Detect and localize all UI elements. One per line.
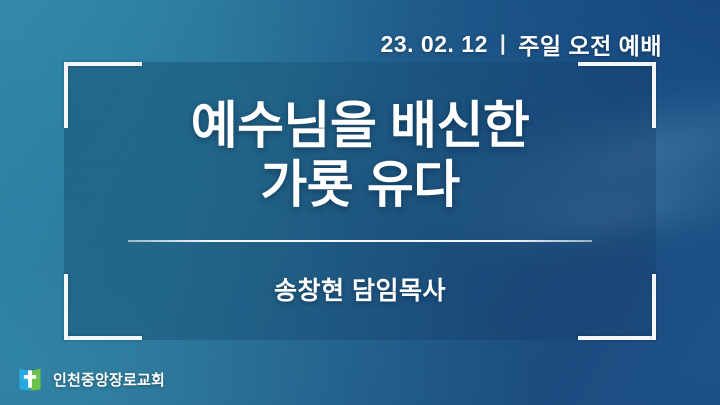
service-name: 주일 오전 예배 bbox=[518, 27, 662, 61]
church-logo: 인천중앙장로교회 bbox=[16, 365, 165, 393]
service-header-separator: | bbox=[500, 32, 506, 56]
sermon-title-line-1: 예수님을 배신한 bbox=[0, 96, 720, 155]
service-date: 23. 02. 12 bbox=[381, 31, 488, 58]
service-header: 23. 02. 12 | 주일 오전 예배 bbox=[381, 27, 662, 61]
church-name: 인천중앙장로교회 bbox=[53, 369, 165, 390]
church-door-cross-icon bbox=[16, 365, 44, 393]
sermon-title-slide: 23. 02. 12 | 주일 오전 예배 예수님을 배신한 가룟 유다 송창현… bbox=[0, 0, 720, 405]
title-divider bbox=[128, 240, 592, 242]
speaker-name: 송창현 담임목사 bbox=[0, 271, 720, 307]
sermon-title: 예수님을 배신한 가룟 유다 bbox=[0, 96, 720, 214]
sermon-title-line-2: 가룟 유다 bbox=[0, 155, 720, 214]
